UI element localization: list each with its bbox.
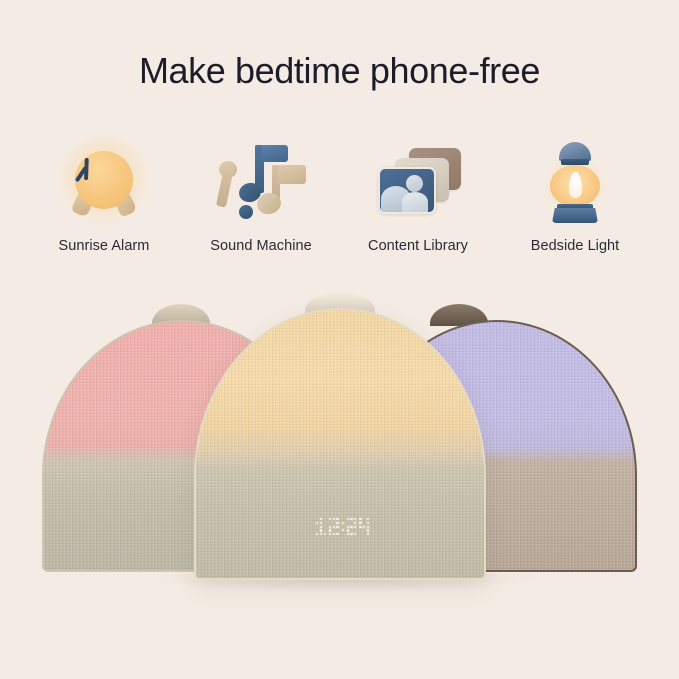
feature-item-content-library[interactable]: Content Library [340, 136, 496, 254]
page-title: Make bedtime phone-free [0, 50, 679, 92]
music-note-dot [239, 205, 253, 219]
feature-item-sound-machine[interactable]: Sound Machine [183, 136, 339, 254]
device-clock-display [316, 518, 369, 535]
feature-label: Bedside Light [531, 238, 620, 254]
lantern-base [552, 208, 598, 223]
feature-list: Sunrise Alarm Sound Machine [0, 136, 679, 254]
card-sun-shape [406, 175, 423, 192]
alarm-clock-icon [56, 136, 152, 228]
feature-item-bedside-light[interactable]: Bedside Light [497, 136, 653, 254]
product-image [0, 292, 679, 592]
lantern-group [539, 140, 611, 224]
music-notes-group [217, 141, 305, 223]
feature-label: Sound Machine [210, 238, 311, 254]
music-note-navy-flag [262, 145, 288, 162]
card-hill-right [402, 192, 428, 212]
lantern-icon [527, 136, 623, 228]
feature-label: Content Library [368, 238, 468, 254]
feature-item-sunrise-alarm[interactable]: Sunrise Alarm [26, 136, 182, 254]
feature-label: Sunrise Alarm [59, 238, 150, 254]
stacked-cards-icon [370, 136, 466, 228]
clock-digit [347, 518, 357, 535]
card-stack [373, 142, 463, 222]
clock-digit [329, 518, 339, 535]
clock-digit [316, 518, 326, 535]
clock-colon [342, 522, 344, 531]
music-note-beige-flag [278, 165, 306, 184]
clock-digit [359, 518, 369, 535]
music-notes-icon [213, 136, 309, 228]
card-front [378, 167, 436, 214]
